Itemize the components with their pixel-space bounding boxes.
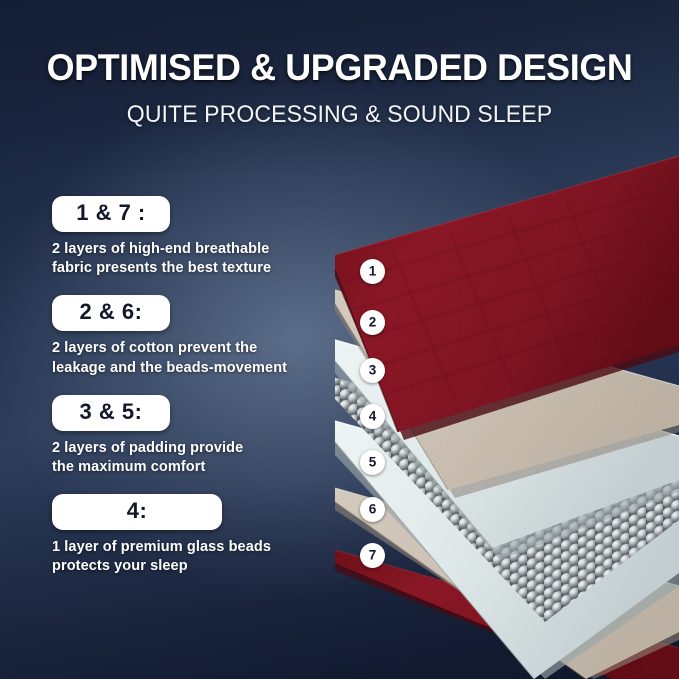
description-line-1: 2 layers of cotton prevent the <box>52 339 352 358</box>
feature-description-4: 1 layer of premium glass beads protects … <box>52 538 352 577</box>
page-subtitle: QUITE PROCESSING & SOUND SLEEP <box>14 101 666 129</box>
description-line-2: the maximum comfort <box>52 458 352 477</box>
layer-badge-1: 1 <box>360 259 385 284</box>
feature-block-1-7: 1 & 7 : 2 layers of high-end breathable … <box>52 196 352 278</box>
feature-blocks: 1 & 7 : 2 layers of high-end breathable … <box>52 196 352 594</box>
description-line-1: 2 layers of high-end breathable <box>52 240 352 259</box>
layer-badge-2: 2 <box>360 310 385 335</box>
layer-label-pill-4: 4: <box>52 494 222 530</box>
layer-badge-number: 3 <box>369 363 377 377</box>
layer-label-pill-2-6: 2 & 6: <box>52 295 170 331</box>
layer-badge-3: 3 <box>360 358 385 383</box>
feature-block-4: 4: 1 layer of premium glass beads protec… <box>52 494 352 576</box>
page-title: OPTIMISED & UPGRADED DESIGN <box>10 48 669 87</box>
feature-description-2-6: 2 layers of cotton prevent the leakage a… <box>52 339 352 378</box>
feature-description-1-7: 2 layers of high-end breathable fabric p… <box>52 240 352 279</box>
layer-badge-number: 1 <box>369 264 377 278</box>
layer-badge-number: 5 <box>369 455 377 469</box>
layer-badge-6: 6 <box>360 497 385 522</box>
feature-block-2-6: 2 & 6: 2 layers of cotton prevent the le… <box>52 295 352 377</box>
description-line-2: leakage and the beads-movement <box>52 359 352 378</box>
layer-label-text: 2 & 6: <box>72 300 150 325</box>
feature-block-3-5: 3 & 5: 2 layers of padding provide the m… <box>52 395 352 477</box>
layer-label-pill-1-7: 1 & 7 : <box>52 196 170 232</box>
description-line-2: protects your sleep <box>52 557 352 576</box>
layer-badge-5: 5 <box>360 450 385 475</box>
description-line-1: 1 layer of premium glass beads <box>52 538 352 557</box>
layer-label-pill-3-5: 3 & 5: <box>52 395 170 431</box>
header: OPTIMISED & UPGRADED DESIGN QUITE PROCES… <box>0 48 679 129</box>
layer-badge-number: 2 <box>369 315 377 329</box>
layer-label-text: 1 & 7 : <box>72 201 150 226</box>
layer-badge-7: 7 <box>360 543 385 568</box>
layer-badge-number: 4 <box>369 409 377 423</box>
layer-badge-4: 4 <box>360 404 385 429</box>
description-line-2: fabric presents the best texture <box>52 259 352 278</box>
layer-badge-number: 6 <box>369 502 377 516</box>
feature-description-3-5: 2 layers of padding provide the maximum … <box>52 439 352 478</box>
poster-root: OPTIMISED & UPGRADED DESIGN QUITE PROCES… <box>0 0 679 679</box>
layer-label-text: 4: <box>98 499 176 524</box>
layer-label-text: 3 & 5: <box>72 400 150 425</box>
layer-badge-number: 7 <box>369 548 377 562</box>
description-line-1: 2 layers of padding provide <box>52 439 352 458</box>
